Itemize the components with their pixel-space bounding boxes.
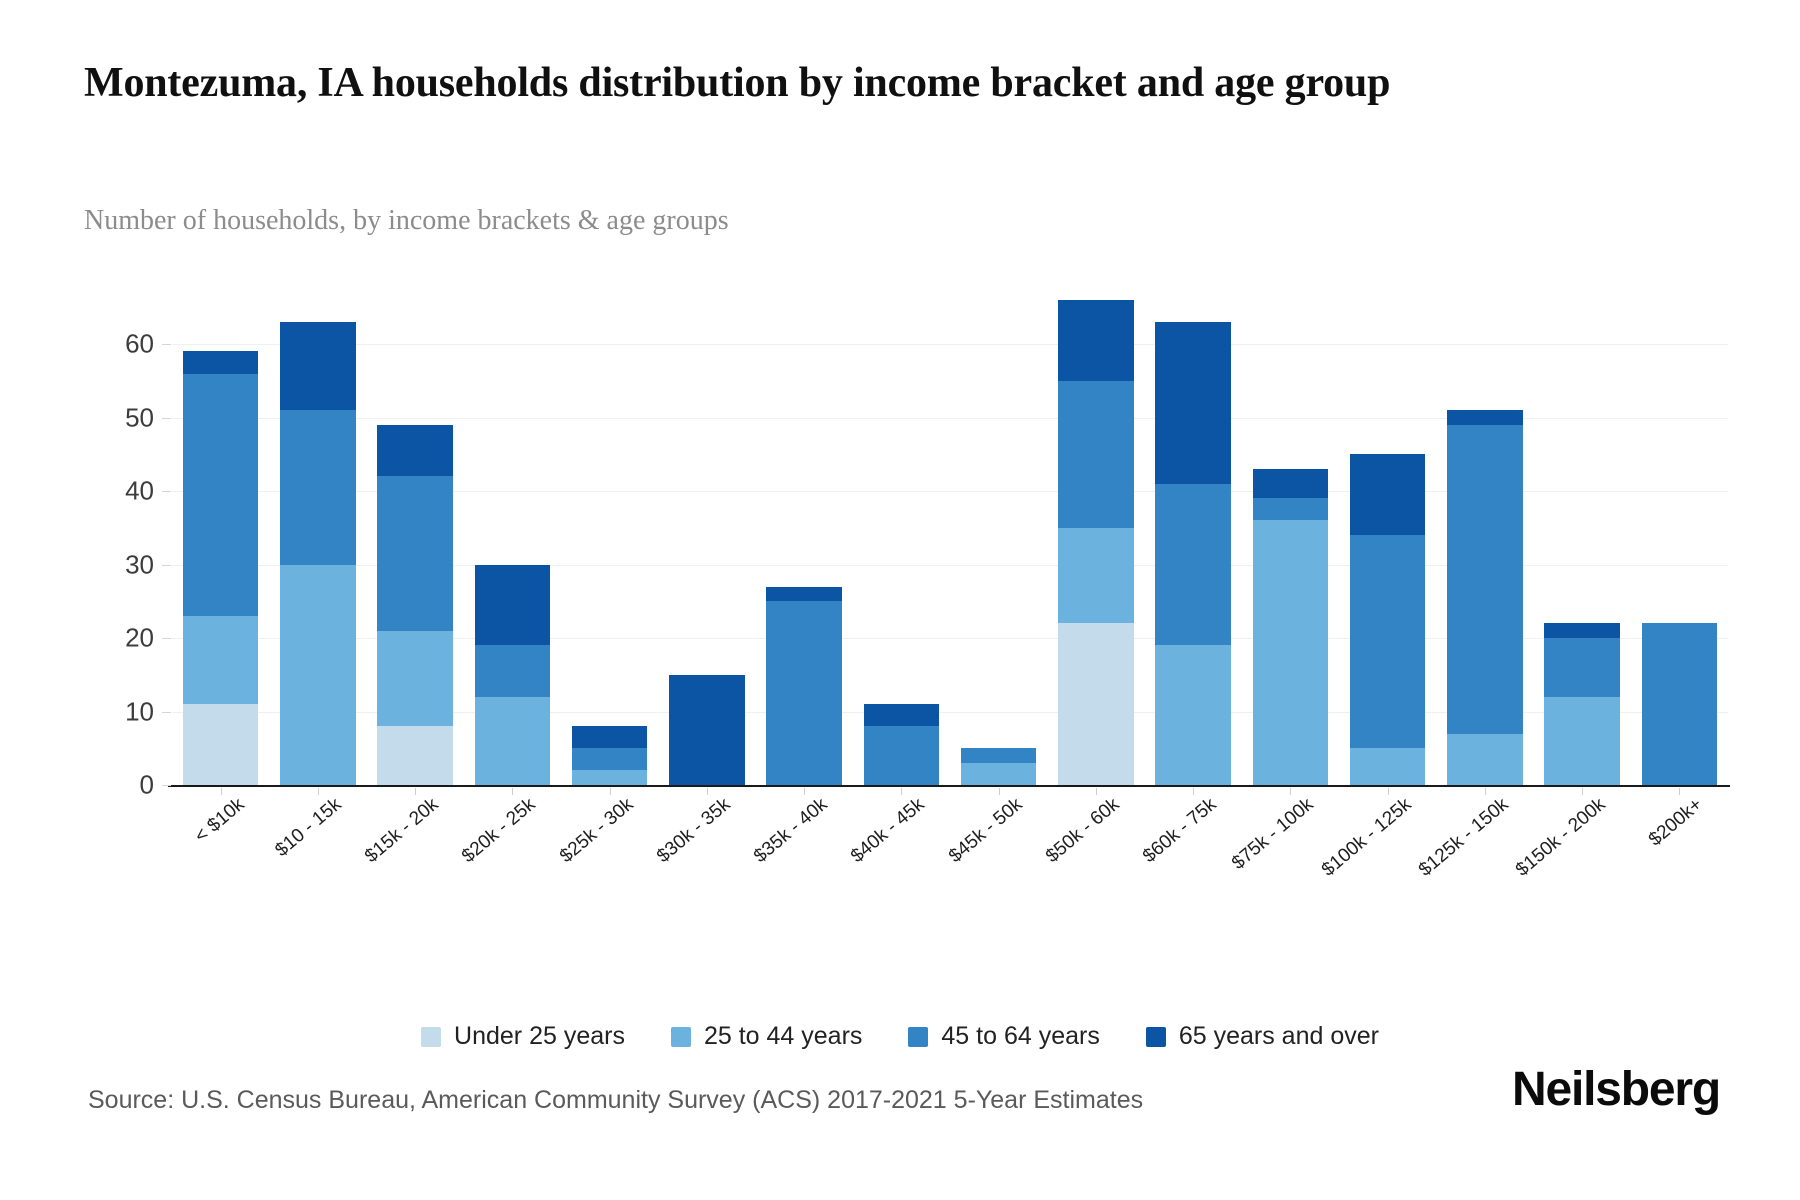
bar-segment[interactable] [1544, 638, 1619, 697]
x-axis-tick-mark [707, 788, 708, 795]
x-axis-tick-mark [1290, 788, 1291, 795]
bar-segment[interactable] [864, 726, 939, 785]
bar-segment[interactable] [377, 425, 452, 476]
bar-segment[interactable] [961, 763, 1036, 785]
x-axis-line [168, 785, 1730, 787]
bar-segment[interactable] [183, 351, 258, 373]
x-axis-tick-label: $125k - 150k [1415, 794, 1513, 881]
x-axis-tick-label: $10 - 15k [271, 794, 346, 862]
bar-segment[interactable] [280, 410, 355, 564]
bar-segment[interactable] [280, 565, 355, 785]
bar-segment[interactable] [1155, 484, 1230, 646]
bar-segment[interactable] [475, 697, 550, 785]
x-axis-tick-label: $60k - 75k [1139, 794, 1221, 868]
bar-segment[interactable] [1058, 381, 1133, 528]
y-axis-tick-mark [162, 418, 171, 419]
bar-segment[interactable] [1253, 498, 1328, 520]
bar-stack[interactable] [669, 675, 744, 785]
x-axis-tick-mark [415, 788, 416, 795]
bar-stack[interactable] [1544, 623, 1619, 785]
legend-label: Under 25 years [454, 1022, 625, 1051]
x-axis-tick-label: $150k - 200k [1512, 794, 1610, 881]
bar-stack[interactable] [766, 587, 841, 785]
bar-stack[interactable] [475, 565, 550, 785]
x-axis-tick-mark [610, 788, 611, 795]
brand-logo: Neilsberg [1512, 1062, 1720, 1117]
bar-segment[interactable] [669, 675, 744, 785]
bar-segment[interactable] [572, 726, 647, 748]
x-axis-tick-mark [1096, 788, 1097, 795]
bar-segment[interactable] [1350, 454, 1425, 535]
bar-stack[interactable] [864, 704, 939, 785]
bar-segment[interactable] [572, 748, 647, 770]
chart-legend: Under 25 years25 to 44 years45 to 64 yea… [0, 1022, 1800, 1051]
bar-stack[interactable] [572, 726, 647, 785]
plot-area [172, 300, 1728, 785]
y-axis-tick-label: 40 [80, 476, 154, 507]
x-axis-tick-mark [901, 788, 902, 795]
bar-segment[interactable] [961, 748, 1036, 763]
y-axis-tick-mark [162, 491, 171, 492]
bar-segment[interactable] [864, 704, 939, 726]
bar-segment[interactable] [1253, 469, 1328, 498]
legend-item[interactable]: Under 25 years [421, 1022, 625, 1051]
bar-segment[interactable] [1155, 322, 1230, 484]
x-axis-tick-mark [1485, 788, 1486, 795]
bar-stack[interactable] [1058, 300, 1133, 785]
x-axis-tick-mark [1582, 788, 1583, 795]
x-axis-tick-mark [318, 788, 319, 795]
legend-label: 65 years and over [1179, 1022, 1379, 1051]
bar-stack[interactable] [1155, 322, 1230, 785]
x-axis-tick-mark [1679, 788, 1680, 795]
x-axis-tick-label: $20k - 25k [458, 794, 540, 868]
y-axis-tick-label: 30 [80, 549, 154, 580]
y-axis-tick-label: 0 [80, 770, 154, 801]
x-axis-tick-label: $15k - 20k [361, 794, 443, 868]
x-axis-tick-label: $200k+ [1645, 794, 1707, 851]
x-axis-tick-label: $35k - 40k [750, 794, 832, 868]
y-axis-tick-label: 10 [80, 696, 154, 727]
bar-segment[interactable] [377, 476, 452, 630]
bar-segment[interactable] [1058, 623, 1133, 785]
bar-stack[interactable] [961, 748, 1036, 785]
bar-segment[interactable] [1544, 623, 1619, 638]
chart-page: Montezuma, IA households distribution by… [0, 0, 1800, 1200]
source-note: Source: U.S. Census Bureau, American Com… [88, 1086, 1143, 1115]
x-axis-tick-label: $25k - 30k [556, 794, 638, 868]
bar-segment[interactable] [377, 631, 452, 727]
bar-series-container [172, 300, 1728, 785]
x-axis-tick-label: < $10k [191, 794, 249, 848]
legend-swatch-icon [671, 1027, 691, 1047]
bar-segment[interactable] [572, 770, 647, 785]
bar-segment[interactable] [1058, 528, 1133, 624]
legend-item[interactable]: 65 years and over [1146, 1022, 1379, 1051]
page-subtitle: Number of households, by income brackets… [84, 204, 1584, 238]
bar-stack[interactable] [1642, 623, 1717, 785]
x-axis-tick-label: $100k - 125k [1317, 794, 1415, 881]
bar-segment[interactable] [1544, 697, 1619, 785]
legend-swatch-icon [421, 1027, 441, 1047]
legend-label: 45 to 64 years [941, 1022, 1099, 1051]
bar-stack[interactable] [377, 425, 452, 785]
y-axis-tick-mark [162, 638, 171, 639]
bar-segment[interactable] [1058, 300, 1133, 381]
y-axis-tick-mark [162, 344, 171, 345]
bar-segment[interactable] [183, 616, 258, 704]
y-axis-tick-mark [162, 712, 171, 713]
bar-segment[interactable] [377, 726, 452, 785]
y-axis-tick-mark [162, 785, 171, 786]
x-axis-tick-label: $45k - 50k [945, 794, 1027, 868]
y-axis-tick-label: 20 [80, 623, 154, 654]
x-axis-tick-mark [512, 788, 513, 795]
legend-label: 25 to 44 years [704, 1022, 862, 1051]
x-axis-tick-label: $40k - 45k [847, 794, 929, 868]
bar-segment[interactable] [1350, 535, 1425, 748]
x-axis-tick-label: $75k - 100k [1228, 794, 1318, 875]
x-axis-labels: < $10k$10 - 15k$15k - 20k$20k - 25k$25k … [172, 788, 1728, 918]
x-axis-tick-mark [221, 788, 222, 795]
bar-segment[interactable] [1350, 748, 1425, 785]
legend-item[interactable]: 45 to 64 years [908, 1022, 1099, 1051]
bar-segment[interactable] [1447, 425, 1522, 734]
x-axis-tick-mark [1388, 788, 1389, 795]
x-axis-tick-label: $50k - 60k [1042, 794, 1124, 868]
bar-segment[interactable] [475, 645, 550, 696]
bar-stack[interactable] [1350, 454, 1425, 785]
bar-segment[interactable] [1253, 520, 1328, 785]
bar-segment[interactable] [1155, 645, 1230, 785]
bar-segment[interactable] [766, 587, 841, 602]
page-title: Montezuma, IA households distribution by… [84, 58, 1704, 109]
bar-stack[interactable] [1447, 410, 1522, 785]
legend-swatch-icon [908, 1027, 928, 1047]
y-axis-tick-label: 60 [80, 329, 154, 360]
bar-segment[interactable] [475, 565, 550, 646]
bar-segment[interactable] [766, 601, 841, 785]
legend-item[interactable]: 25 to 44 years [671, 1022, 862, 1051]
bar-segment[interactable] [183, 704, 258, 785]
x-axis-tick-mark [999, 788, 1000, 795]
bar-segment[interactable] [1642, 623, 1717, 785]
bar-stack[interactable] [280, 322, 355, 785]
bar-stack[interactable] [183, 351, 258, 785]
bar-segment[interactable] [1447, 734, 1522, 785]
bar-segment[interactable] [280, 322, 355, 410]
bar-segment[interactable] [1447, 410, 1522, 425]
bar-stack[interactable] [1253, 469, 1328, 785]
y-axis-tick-label: 50 [80, 402, 154, 433]
bar-segment[interactable] [183, 374, 258, 617]
y-axis-tick-mark [162, 565, 171, 566]
legend-swatch-icon [1146, 1027, 1166, 1047]
x-axis-tick-mark [1193, 788, 1194, 795]
x-axis-tick-label: $30k - 35k [653, 794, 735, 868]
x-axis-tick-mark [804, 788, 805, 795]
